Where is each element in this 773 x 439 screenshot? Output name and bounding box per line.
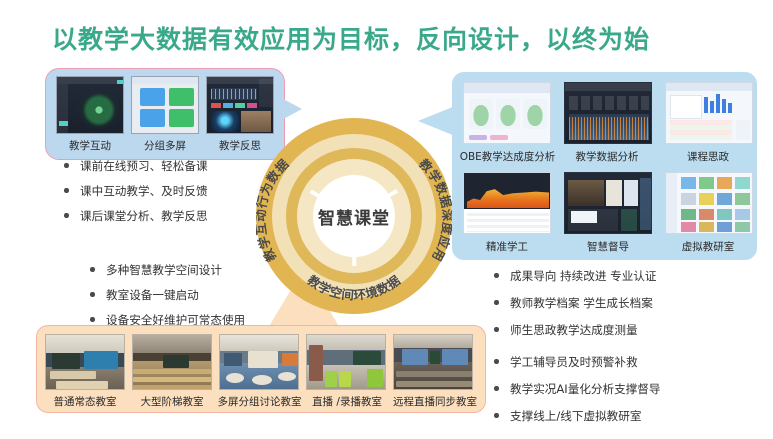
thumbnail-group-multiscreen[interactable] bbox=[131, 76, 199, 134]
list-item: 师生思政教学达成度测量 bbox=[492, 322, 660, 338]
bullet-list-interaction: 课前在线预习、轻松备课 课中互动教学、及时反馈 课后课堂分析、教学反思 bbox=[62, 158, 208, 233]
photo-remote-sync-classroom[interactable] bbox=[393, 334, 473, 390]
page-title: 以教学大数据有效应用为目标，反向设计，以终为始 bbox=[52, 20, 650, 56]
thumbnail-teaching-interaction[interactable] bbox=[56, 76, 124, 134]
list-item: 教室设备一键启动 bbox=[88, 287, 245, 303]
thumbnail-row-analytics-1 bbox=[463, 82, 753, 144]
photo-caption: 多屏分组讨论教室 bbox=[212, 394, 307, 409]
photo-large-tiered-classroom[interactable] bbox=[132, 334, 212, 390]
list-item: 学工辅导员及时预警补救 bbox=[492, 354, 660, 370]
thumbnail-course-ideology[interactable] bbox=[665, 82, 753, 144]
photo-standard-classroom[interactable] bbox=[45, 334, 125, 390]
thumbnail-row-interaction bbox=[56, 76, 274, 134]
thumbnail-caption: 教学互动 bbox=[56, 138, 124, 153]
thumbnail-row-analytics-2 bbox=[463, 172, 753, 234]
list-item: 课后课堂分析、教学反思 bbox=[62, 208, 208, 224]
list-item: 成果导向 持续改进 专业认证 bbox=[492, 268, 660, 284]
thumbnail-caption: 虚拟教研室 bbox=[664, 239, 752, 254]
thumbnail-caption: 课程思政 bbox=[664, 149, 752, 164]
list-item: 多种智慧教学空间设计 bbox=[88, 262, 245, 278]
thumbnail-caption: OBE教学达成度分析 bbox=[455, 149, 560, 164]
donut-center-label: 智慧课堂 bbox=[318, 204, 390, 229]
thumbnail-caption: 精准学工 bbox=[463, 239, 551, 254]
thumbnail-virtual-research-room[interactable] bbox=[665, 172, 753, 234]
slide-canvas: 以教学大数据有效应用为目标，反向设计，以终为始 bbox=[0, 0, 773, 439]
list-item: 课前在线预习、轻松备课 bbox=[62, 158, 208, 174]
thumbnail-caption: 分组多屏 bbox=[131, 138, 199, 153]
thumbnail-obe-analysis[interactable] bbox=[463, 82, 551, 144]
photo-live-recording-classroom[interactable] bbox=[306, 334, 386, 390]
smart-classroom-donut: 教学互动行为数据 教学数据深度应用 教学空间环境数据 智慧课堂 bbox=[256, 118, 452, 314]
photo-multiscreen-discussion-classroom[interactable] bbox=[219, 334, 299, 390]
photo-row-classrooms bbox=[45, 334, 473, 390]
photo-caption: 远程直播同步教室 bbox=[385, 394, 485, 409]
list-item: 支撑线上/线下虚拟教研室 bbox=[492, 408, 660, 424]
thumbnail-precision-student-work[interactable] bbox=[463, 172, 551, 234]
list-item: 课中互动教学、及时反馈 bbox=[62, 183, 208, 199]
photo-caption: 直播 /录播教室 bbox=[303, 394, 391, 409]
list-item: 教师教学档案 学生成长档案 bbox=[492, 295, 660, 311]
thumbnail-caption: 智慧督导 bbox=[564, 239, 652, 254]
thumbnail-caption: 教学数据分析 bbox=[563, 149, 651, 164]
list-item: 教学实况AI量化分析支撑督导 bbox=[492, 381, 660, 397]
photo-caption: 大型阶梯教室 bbox=[132, 394, 212, 409]
thumbnail-teaching-data-analysis[interactable] bbox=[564, 82, 652, 144]
thumbnail-smart-supervision[interactable] bbox=[564, 172, 652, 234]
photo-caption: 普通常态教室 bbox=[45, 394, 125, 409]
donut-center: 智慧课堂 bbox=[313, 175, 395, 257]
bullet-list-data-application: 成果导向 持续改进 专业认证 教师教学档案 学生成长档案 师生思政教学达成度测量… bbox=[492, 268, 660, 435]
